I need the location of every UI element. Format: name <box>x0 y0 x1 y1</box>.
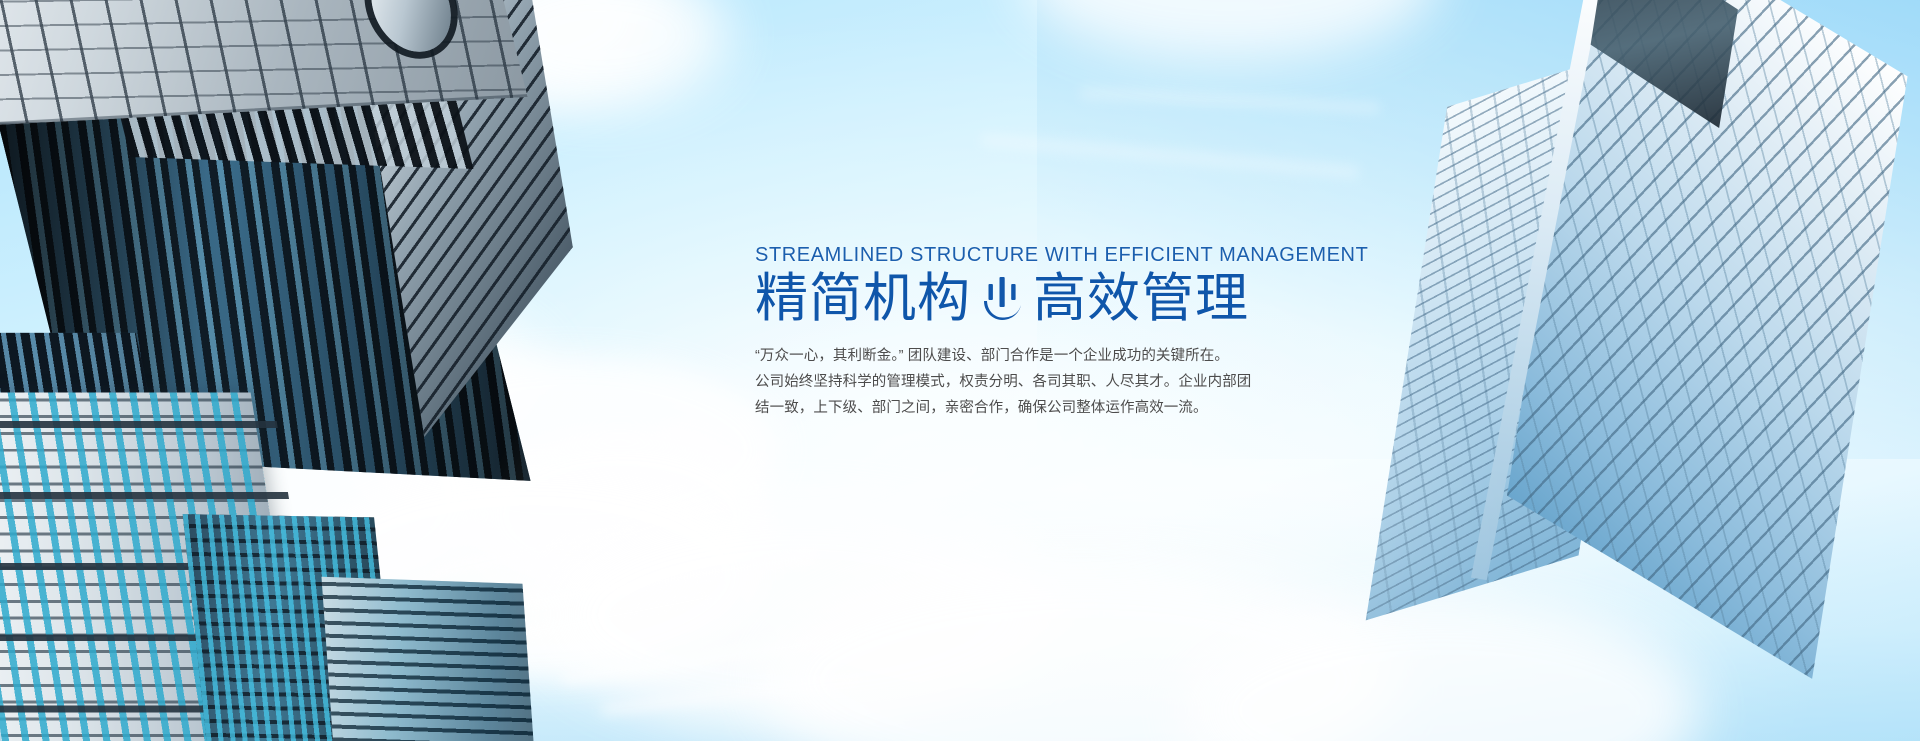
hero-banner: STREAMLINED STRUCTURE WITH EFFICIENT MAN… <box>0 0 1920 741</box>
headline-left: 精简机构 <box>755 269 971 328</box>
cluster-right-tower <box>321 577 538 741</box>
banner-copy-block: STREAMLINED STRUCTURE WITH EFFICIENT MAN… <box>755 244 1275 422</box>
banner-description: “万众一心，其利断金。” 团队建设、部门合作是一个企业成功的关键所在。 公司始终… <box>755 344 1275 421</box>
description-line: “万众一心，其利断金。” 团队建设、部门合作是一个企业成功的关键所在。 <box>755 344 1275 370</box>
light-glass-skyscraper <box>1373 0 1920 660</box>
description-line: 结一致，上下级、部门之间，亲密合作，确保公司整体运作高效一流。 <box>755 396 1275 422</box>
description-line: 公司始终坚持科学的管理模式，权责分明、各司其职、人尽其才。企业内部团 <box>755 370 1275 396</box>
window-grid <box>321 577 538 741</box>
city-tower-cluster <box>0 330 490 741</box>
banner-eyebrow: STREAMLINED STRUCTURE WITH EFFICIENT MAN… <box>755 244 1275 267</box>
company-logo-mark-icon <box>981 275 1023 323</box>
headline-right: 高效管理 <box>1033 269 1249 328</box>
banner-headline: 精简机构 高效管理 <box>755 269 1275 328</box>
